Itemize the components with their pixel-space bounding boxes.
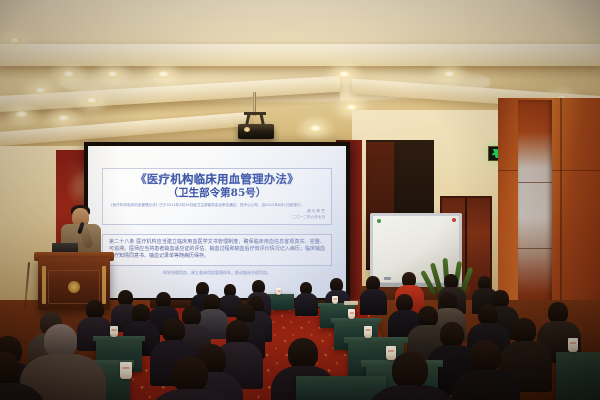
podium-trim [42, 266, 46, 304]
slide-title-box: 《医疗机构临床用血管理办法》 （卫生部令第85号） 《医疗机构临床用血管理办法》… [102, 168, 332, 225]
downlight-icon [57, 115, 70, 122]
slide-signature-date: 二〇一二年六月七日 [109, 215, 325, 220]
paper-cup [110, 326, 118, 337]
slide-content: 《医疗机构临床用血管理办法》 （卫生部令第85号） 《医疗机构临床用血管理办法》… [88, 146, 346, 298]
paper-cup [332, 296, 338, 304]
downlight-icon [106, 71, 119, 78]
podium-trim [102, 266, 106, 304]
whiteboard-eraser-icon [384, 277, 391, 280]
conference-hall-photo: 《医疗机构临床用血管理办法》 （卫生部令第85号） 《医疗机构临床用血管理办法》… [0, 0, 600, 400]
pillar-seam [518, 248, 552, 249]
table-top [93, 336, 145, 341]
ceiling-back-panel [0, 0, 600, 44]
downlight-icon [443, 71, 456, 78]
table-top [331, 318, 381, 323]
table-top [344, 337, 408, 343]
paper-handout [344, 301, 358, 305]
downlight-icon [309, 125, 322, 132]
downlight-icon [338, 71, 351, 78]
slide-note: 《医疗机构临床用血管理办法》已于2012年3月19日经卫生部部务会议审议通过，现… [109, 203, 325, 208]
slide-body-box: 第二十八条 医疗机构应当建立临床用血医学文书管理制度，确保临床用血信息客观真实、… [102, 234, 332, 266]
slide-subtitle: （卫生部令第85号） [109, 187, 325, 200]
downlight-icon [85, 97, 98, 104]
slide-body-text: 第二十八条 医疗机构应当建立临床用血医学文书管理制度，确保临床用血信息客观真实、… [109, 239, 325, 261]
projection-screen: 《医疗机构临床用血管理办法》 （卫生部令第85号） 《医疗机构临床用血管理办法》… [88, 146, 346, 298]
paper-cup [364, 326, 372, 338]
paper-cup [348, 309, 355, 319]
downlight-icon [157, 71, 170, 78]
whiteboard-magnet-icon [452, 218, 456, 222]
whiteboard-magnet-icon [377, 219, 381, 223]
slide-footer-text: 科学合理用血，建立临床用血管理体系，推动临床合理用血。 [102, 270, 332, 276]
paper-cup [120, 362, 132, 379]
paper-cup [568, 338, 578, 352]
downlight-icon [8, 37, 21, 44]
wood-panel-seam [560, 98, 562, 328]
podium-emblem-icon [68, 281, 80, 293]
downlight-icon [62, 71, 75, 78]
ceiling-beam-main [0, 44, 600, 66]
paper-cup [276, 288, 281, 295]
projector-lens-icon [244, 127, 250, 132]
slide-signature-name: 部 长 陈 竺 [109, 209, 325, 214]
table-row [268, 294, 294, 310]
downlight-icon [15, 111, 28, 118]
pillar-seam [518, 182, 552, 183]
table-row [556, 352, 600, 400]
ceiling-projector [238, 124, 274, 139]
downlight-icon [34, 87, 47, 94]
reflective-wood-pillar [518, 100, 552, 326]
slide-title: 《医疗机构临床用血管理办法》 [109, 173, 325, 186]
